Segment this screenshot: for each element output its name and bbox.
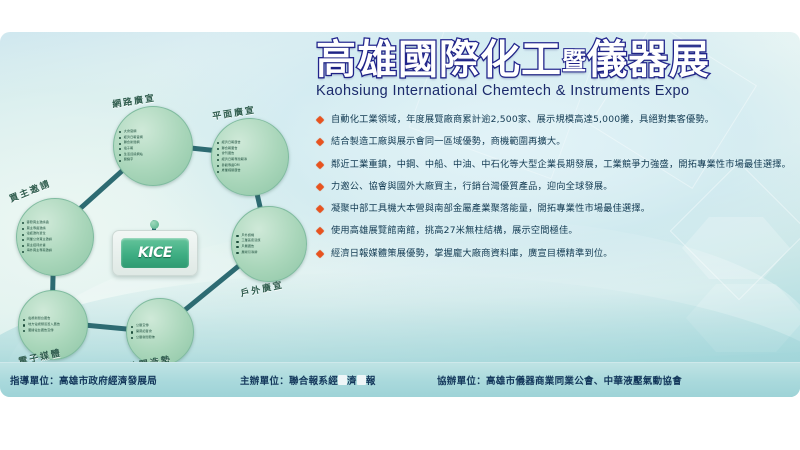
mindmap-node-buyer-items: 寄發買主邀請函 買主專函邀請 電話邀約單位 同業公會買主邀請 買主招待計畫 海外… — [22, 220, 89, 254]
mindmap-node-print-items: 經濟日報廣告 聯合報廣告 會刊廣告 經濟日報專題報導 參觀專函DM 產業媒體廣告 — [217, 140, 284, 174]
expo-title-zh-tail: 儀器展 — [587, 37, 710, 83]
feature-bullet-list: 自動化工業領域，年度展覽廠商累計逾2,500家、展示規模高達5,000攤，具絕對… — [316, 113, 794, 261]
footer-host-redaction-2 — [357, 375, 366, 385]
mindmap-node-pr-items: 公關宣傳 開幕記者會 公關新聞發佈 — [131, 323, 189, 340]
feature-bullet: 鄰近工業重鎮，中鋼、中船、中油、中石化等大型企業長期發展，工業競爭力強盛，開拓專… — [316, 158, 794, 172]
expo-banner: 網路廣宣 大會官網 經濟日報官網 聯合新聞網 電子報 生活資訊網站 關鍵字 平面… — [0, 32, 800, 397]
feature-bullet: 力邀公、協會與國外大廠買主，行銷台灣優質產品，迎向全球發展。 — [316, 180, 794, 194]
mindmap-node-network[interactable]: 大會官網 經濟日報官網 聯合新聞網 電子報 生活資訊網站 關鍵字 — [113, 106, 193, 186]
expo-title-en: Kaohsiung International Chemtech & Instr… — [316, 83, 794, 99]
feature-bullet: 自動化工業領域，年度展覽廠商累計逾2,500家、展示規模高達5,000攤，具絕對… — [316, 113, 794, 127]
footer-host-prefix: 主辦單位：聯合報系經 — [240, 376, 338, 387]
mindmap-node-outdoor[interactable]: 戶外旗幟 工業區街道旗 戶展廣告 展場引導牌 — [231, 206, 307, 282]
mindmap-node-emedia-items: 電視新聞台廣告 地方電視頻道置入廣告 廣播電台廣告宣傳 — [23, 316, 83, 333]
footer-host-unit: 主辦單位：聯合報系經濟報 — [240, 373, 376, 387]
footer-coorganizer-unit: 協辦單位：高雄市儀器商業同業公會、中華液壓氣動協會 — [437, 373, 682, 387]
kice-logo-text: KICE — [138, 245, 172, 261]
feature-bullet: 使用高雄展覽館南館，挑高27米無柱結構，展示空間極佳。 — [316, 224, 794, 238]
mindmap-node-outdoor-items: 戶外旗幟 工業區街道旗 戶展廣告 展場引導牌 — [236, 233, 301, 256]
banner-canvas: 網路廣宣 大會官網 經濟日報官網 聯合新聞網 電子報 生活資訊網站 關鍵字 平面… — [0, 0, 800, 450]
kice-logo-plaque[interactable]: KICE — [112, 230, 198, 276]
feature-bullet: 結合製造工廠與展示會同一區域優勢，商機範圍再擴大。 — [316, 135, 794, 149]
footer-host-suffix: 濟 — [347, 376, 357, 387]
footer-guidance-unit: 指導單位：高雄市政府經濟發展局 — [10, 373, 157, 387]
expo-title-zh: 高雄國際化工暨儀器展 — [316, 40, 794, 80]
feature-bullet: 凝聚中部工具機大本營與南部金屬產業聚落能量，開拓專業性市場最佳選擇。 — [316, 202, 794, 216]
plaque-hook-icon — [150, 220, 159, 229]
mindmap-node-buyer[interactable]: 寄發買主邀請函 買主專函邀請 電話邀約單位 同業公會買主邀請 買主招待計畫 海外… — [16, 198, 94, 276]
promotion-mindmap: 網路廣宣 大會官網 經濟日報官網 聯合新聞網 電子報 生活資訊網站 關鍵字 平面… — [0, 32, 320, 362]
footer-host-redaction-1 — [338, 375, 347, 385]
expo-title-zh-conj: 暨 — [562, 47, 587, 75]
organizer-footer: 指導單位：高雄市政府經濟發展局 主辦單位：聯合報系經濟報 協辦單位：高雄市儀器商… — [0, 362, 800, 397]
kice-logo-inner: KICE — [121, 238, 189, 268]
mindmap-node-print[interactable]: 經濟日報廣告 聯合報廣告 會刊廣告 經濟日報專題報導 參觀專函DM 產業媒體廣告 — [211, 118, 289, 196]
expo-title-zh-main: 高雄國際化工 — [316, 37, 562, 83]
feature-bullet: 經濟日報媒體策展優勢，掌握龐大廠商資料庫，廣宣目標精準到位。 — [316, 247, 794, 261]
banner-content: 高雄國際化工暨儀器展 Kaohsiung International Chemt… — [316, 40, 794, 269]
footer-host-tail: 報 — [366, 376, 376, 387]
mindmap-node-network-items: 大會官網 經濟日報官網 聯合新聞網 電子報 生活資訊網站 關鍵字 — [119, 129, 188, 163]
